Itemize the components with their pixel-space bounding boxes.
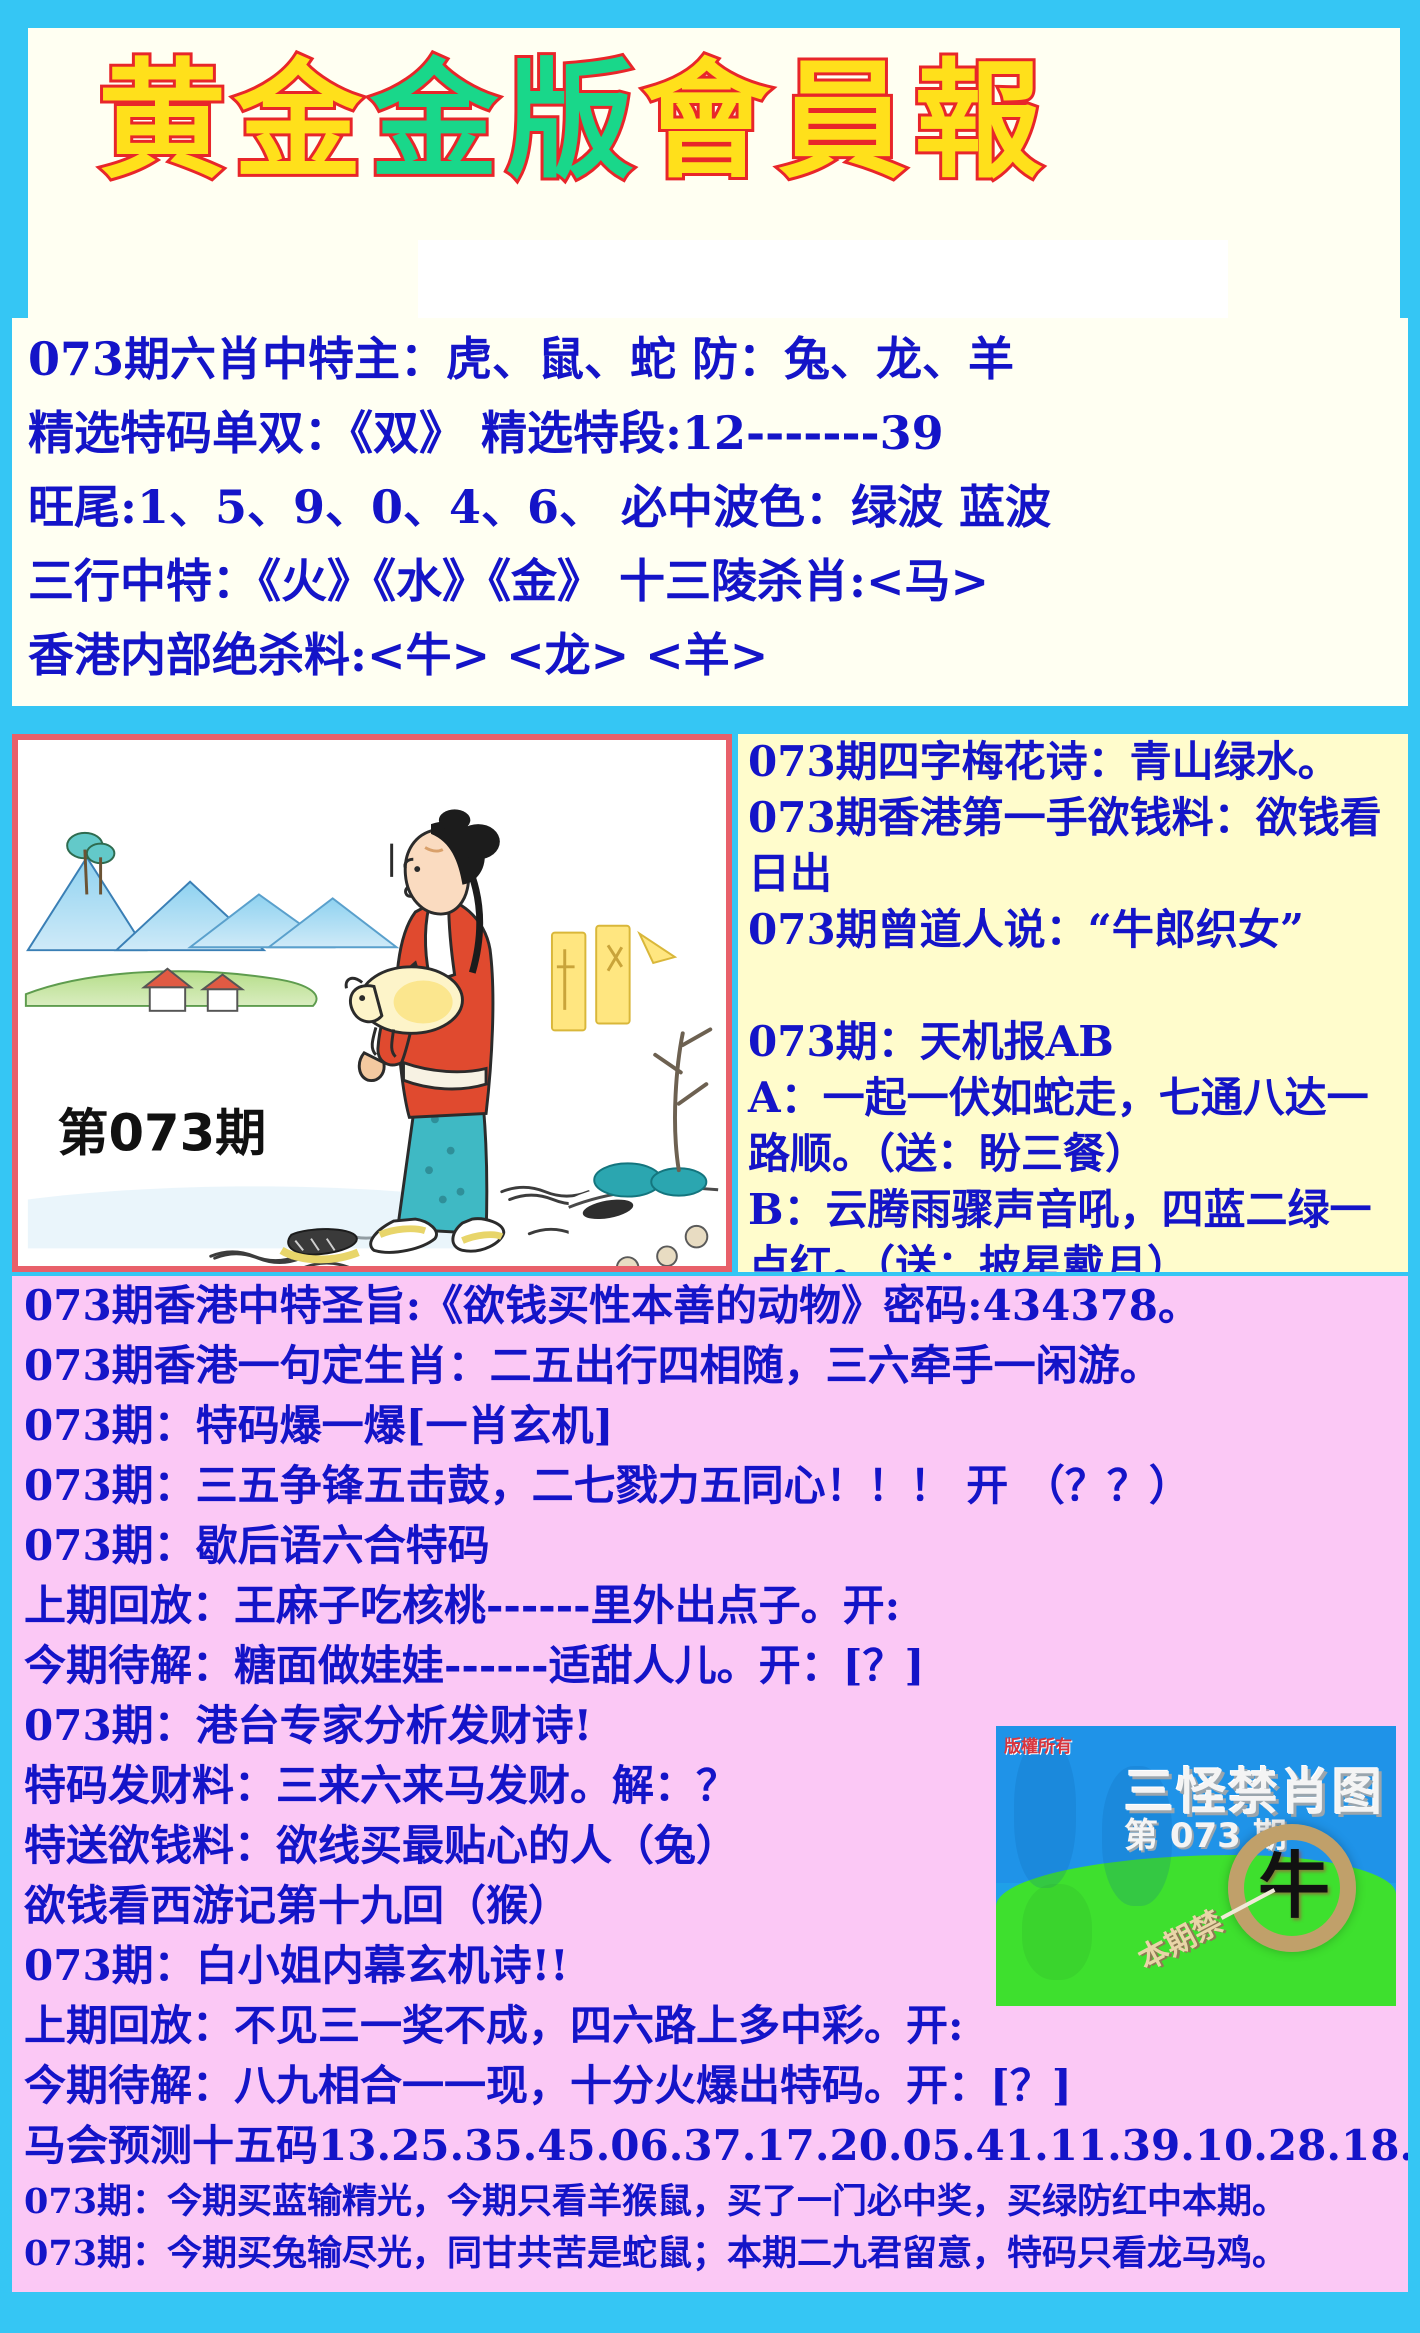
publication-logo: 黄金金版會員報	[98, 46, 1050, 197]
right-line-8: 路顺。（送：盼三餐）	[738, 1126, 1408, 1182]
illustration-lady-with-goat: 第073期	[18, 740, 726, 1266]
masthead-white-panel	[418, 240, 1228, 325]
headline-line-4: 三行中特：《火》《水》《金》 十三陵杀肖:<马>	[12, 544, 1408, 618]
pink-line-3: 073期：特码爆一爆[一肖玄机]	[12, 1396, 1408, 1456]
svg-text:第073期: 第073期	[57, 1105, 266, 1164]
pink-line-5: 073期：歇后语六合特码	[12, 1516, 1408, 1576]
badge-ghost-figure-1	[1014, 1738, 1076, 1888]
badge-ghost-figure-3	[1022, 1884, 1092, 1980]
logo-char-7: 報	[914, 47, 1050, 196]
pink-line-4: 073期：三五争锋五击鼓，二七戮力五同心！！！ 开 （？？）	[12, 1456, 1408, 1516]
badge-copyright-text: 版權所有	[1004, 1732, 1072, 1757]
right-line-7: A：一起一伏如蛇走，七通八达一	[738, 1070, 1408, 1126]
headline-block: 073期六肖中特主：虎、鼠、蛇 防：兔、龙、羊 精选特码单双：《双》 精选特段:…	[12, 318, 1408, 738]
poster-page: 黄金金版會員報 073期六肖中特主：虎、鼠、蛇 防：兔、龙、羊 精选特码单双：《…	[0, 0, 1420, 2333]
logo-char-2: 金	[234, 47, 370, 196]
badge-zodiac-char: 牛	[1244, 1834, 1344, 1939]
right-line-spacer	[738, 958, 1408, 1014]
right-line-10: 点红。（送：披星戴月）	[738, 1238, 1408, 1272]
right-line-4: 073期曾道人说：“牛郎织女”	[738, 902, 1408, 958]
pink-line-14: 今期待解：八九相合一一现，十分火爆出特码。开：[？]	[12, 2056, 1408, 2116]
mid-section: 香港内部绝杀料:<牛> <龙> <羊>	[12, 734, 1408, 1274]
headline-line-5: 香港内部绝杀料:<牛> <龙> <羊>	[12, 618, 1408, 692]
forbidden-zodiac-badge: 版權所有 三怪禁肖图 第 073 期 牛 本期禁	[996, 1726, 1396, 2006]
logo-char-6: 員	[778, 47, 914, 196]
pink-small-line-1: 073期：今期买蓝输精光，今期只看羊猴鼠，买了一门必中奖，买绿防红中本期。	[12, 2176, 1408, 2228]
pink-line-7: 今期待解：糖面做娃娃------适甜人儿。开：[？]	[12, 1636, 1408, 1696]
right-line-1: 073期四字梅花诗：青山绿水。	[738, 734, 1408, 790]
right-text-column: 073期四字梅花诗：青山绿水。 073期香港第一手欲钱料：欲钱看 日出 073期…	[738, 734, 1408, 1272]
logo-char-4: 版	[506, 47, 642, 196]
masthead: 黄金金版會員報	[28, 28, 1400, 328]
logo-char-3: 金	[370, 47, 506, 196]
pink-line-2: 073期香港一句定生肖：二五出行四相随，三六牵手一闲游。	[12, 1336, 1408, 1396]
headline-line-2: 精选特码单双：《双》 精选特段:12-------39	[12, 396, 1408, 470]
right-line-3: 日出	[738, 846, 1408, 902]
headline-line-1: 073期六肖中特主：虎、鼠、蛇 防：兔、龙、羊	[12, 318, 1408, 396]
issue-illustration-frame: 香港内部绝杀料:<牛> <龙> <羊>	[12, 734, 732, 1272]
logo-char-1: 黄	[98, 47, 234, 196]
pink-line-1: 073期香港中特圣旨:《欲钱买性本善的动物》密码:434378。	[12, 1276, 1408, 1336]
right-line-9: B：云腾雨骤声音吼，四蓝二绿一	[738, 1182, 1408, 1238]
logo-char-5: 會	[642, 47, 778, 196]
pink-line-15: 马会预测十五码13.25.35.45.06.37.17.20.05.41.11.…	[12, 2116, 1408, 2176]
pink-line-6: 上期回放：王麻子吃核桃------里外出点子。开:	[12, 1576, 1408, 1636]
right-line-6: 073期：天机报AB	[738, 1014, 1408, 1070]
right-line-2: 073期香港第一手欲钱料：欲钱看	[738, 790, 1408, 846]
pink-small-line-2: 073期：今期买兔输尽光，同甘共苦是蛇鼠；本期二九君留意，特码只看龙马鸡。	[12, 2228, 1408, 2280]
headline-line-3: 旺尾:1、5、9、0、4、6、 必中波色：绿波 蓝波	[12, 470, 1408, 544]
